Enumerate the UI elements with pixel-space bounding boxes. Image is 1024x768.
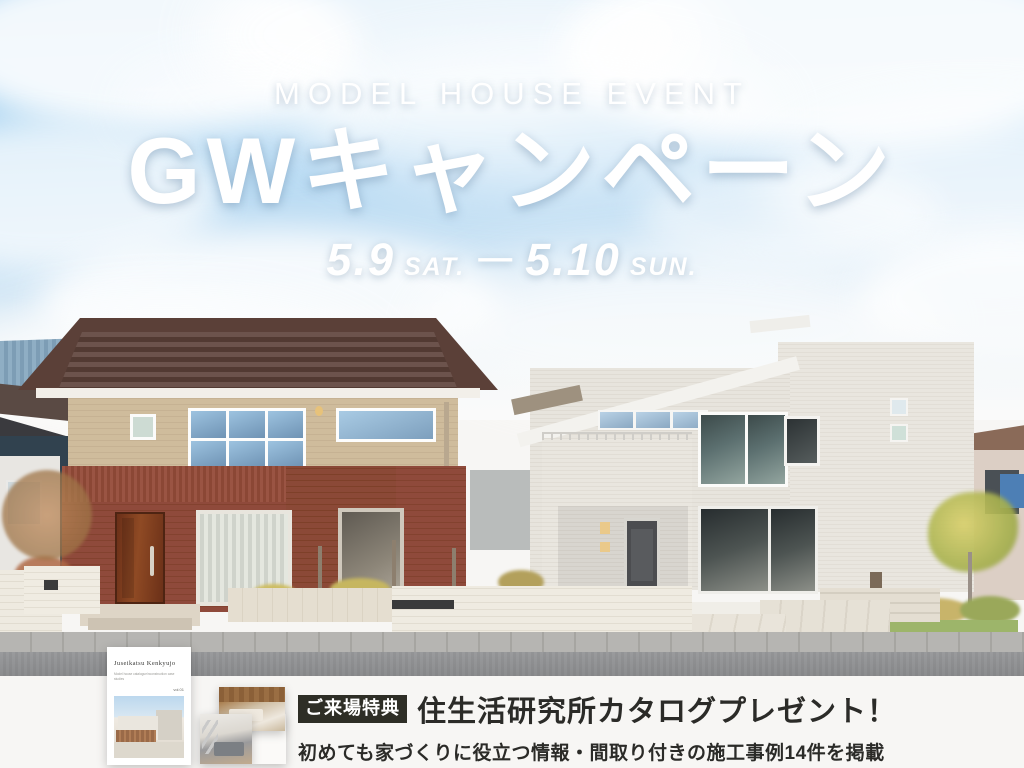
date-start-weekday: SAT. <box>404 253 465 282</box>
campaign-banner: MODEL HOUSE EVENT GWキャンペーン 5.9 SAT. — 5.… <box>0 0 1024 768</box>
hero-date-range: 5.9 SAT. — 5.10 SUN. <box>0 234 1024 286</box>
hero-title: GWキャンペーン <box>0 124 1024 218</box>
left-house-entry-step <box>88 618 192 630</box>
right-house-lower-glass <box>698 506 818 594</box>
right-house-upper-glass <box>698 412 788 487</box>
catalog-cover-photo <box>114 696 184 758</box>
catalog-cover-number: vol.01 <box>114 687 184 692</box>
catalog-cover-subtitle: Model house catalogue\nconstruction case… <box>114 672 184 683</box>
right-house-small-window <box>890 424 908 442</box>
intercom-panel <box>44 580 58 590</box>
visitor-benefit-badge: ご来場特典 <box>298 695 407 723</box>
right-house-porch-light <box>600 542 610 552</box>
right-house-clerestory-window <box>598 410 708 430</box>
wall-accent-slot <box>392 600 454 609</box>
right-house-porch-light <box>600 522 610 534</box>
left-house-wall-lamp <box>315 406 323 416</box>
right-house-entrance-door <box>624 518 660 594</box>
left-house-porch-band <box>62 466 288 502</box>
hero-eyebrow: MODEL HOUSE EVENT <box>0 76 1024 112</box>
left-house-door-handle <box>150 546 154 576</box>
right-house-side-window <box>784 416 820 466</box>
left-house-roof-tiles <box>58 332 458 390</box>
left-house-eave <box>36 388 480 398</box>
date-end-number: 5.10 <box>525 234 621 286</box>
gate-post <box>24 566 100 614</box>
offer-headline: 住生活研究所カタログプレゼント！ <box>417 688 897 730</box>
offer-text-block: ご来場特典 住生活研究所カタログプレゼント！ 初めても家づくりに役立つ情報・間取… <box>298 688 958 765</box>
left-house-door-panel <box>122 518 134 598</box>
street-tree <box>928 492 1018 612</box>
left-house-small-window <box>130 414 156 440</box>
right-house-small-window <box>890 398 908 416</box>
right-house-porch-recess <box>558 506 688 594</box>
planted-sapling <box>318 546 322 594</box>
hero-photo: MODEL HOUSE EVENT GWキャンペーン 5.9 SAT. — 5.… <box>0 0 1024 676</box>
catalog-cover-title: Juseikatsu Kenkyujo <box>114 660 184 667</box>
date-range-separator: — <box>474 239 516 278</box>
catalog-cover-thumbnail: Juseikatsu Kenkyujo Model house catalogu… <box>107 647 191 765</box>
right-house-balcony-rail <box>542 432 692 440</box>
right-house-roof-edge <box>750 315 811 333</box>
left-house-upper-window <box>336 408 436 442</box>
offer-subline: 初めても家づくりに役立つ情報・間取り付きの施工事例14件を掲載 <box>298 738 958 765</box>
date-start-number: 5.9 <box>326 234 395 286</box>
shrub <box>2 470 92 560</box>
date-end-weekday: SUN. <box>630 253 698 282</box>
catalog-interior-photo-stairs <box>200 714 252 764</box>
left-house-grid-window <box>188 408 306 470</box>
